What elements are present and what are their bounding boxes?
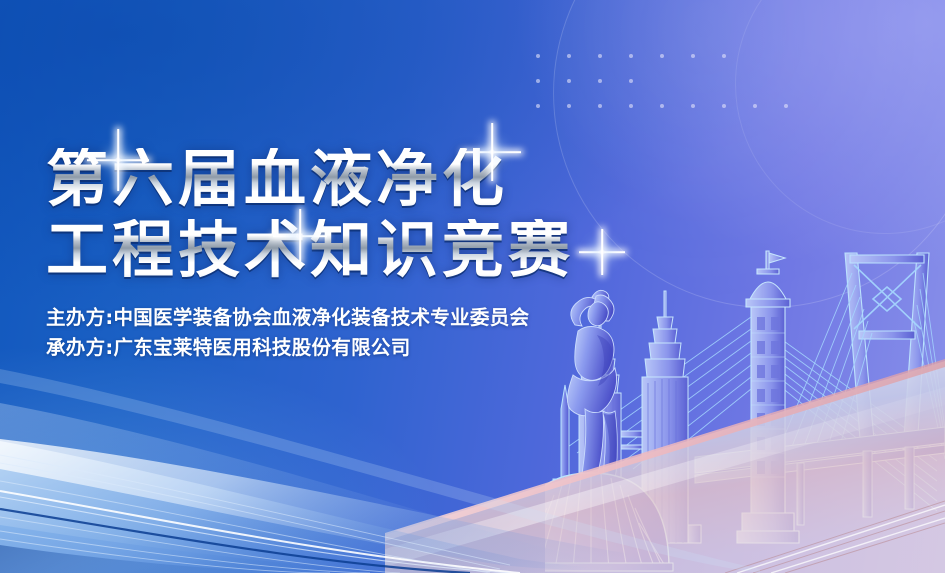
grid-dot bbox=[722, 54, 726, 58]
grid-dot bbox=[536, 79, 540, 83]
grid-dot bbox=[784, 104, 788, 108]
grid-dot bbox=[753, 104, 757, 108]
poster-title: 第六届血液净化 工程技术知识竞赛 bbox=[46, 148, 686, 281]
grid-dot bbox=[660, 104, 664, 108]
organizer-line: 主办方:中国医学装备协会血液净化装备技术专业委员会 bbox=[46, 303, 529, 333]
grid-dot bbox=[598, 79, 602, 83]
grid-dot bbox=[567, 54, 571, 58]
title-line-1: 第六届血液净化 bbox=[46, 148, 686, 210]
grid-dot bbox=[722, 104, 726, 108]
grid-dot bbox=[629, 104, 633, 108]
decorative-dot-grid bbox=[536, 54, 815, 129]
host-line: 承办方:广东宝莱特医用科技股份有限公司 bbox=[46, 333, 529, 363]
grid-dot bbox=[536, 104, 540, 108]
grid-dot bbox=[598, 54, 602, 58]
grid-dot bbox=[536, 54, 540, 58]
grid-dot bbox=[629, 79, 633, 83]
grid-dot bbox=[629, 54, 633, 58]
grid-dot bbox=[567, 79, 571, 83]
dot-row-3 bbox=[536, 104, 815, 129]
grid-dot bbox=[598, 104, 602, 108]
grid-dot bbox=[660, 54, 664, 58]
dot-row-2 bbox=[536, 79, 815, 104]
event-poster: 第六届血液净化 工程技术知识竞赛 主办方:中国医学装备协会血液净化装备技术专业委… bbox=[0, 0, 945, 573]
grid-dot bbox=[691, 54, 695, 58]
grid-dot bbox=[691, 104, 695, 108]
dot-row-1 bbox=[536, 54, 815, 79]
title-line-2: 工程技术知识竞赛 bbox=[46, 219, 686, 281]
grid-dot bbox=[567, 104, 571, 108]
poster-subtitles: 主办方:中国医学装备协会血液净化装备技术专业委员会 承办方:广东宝莱特医用科技股… bbox=[46, 303, 529, 362]
